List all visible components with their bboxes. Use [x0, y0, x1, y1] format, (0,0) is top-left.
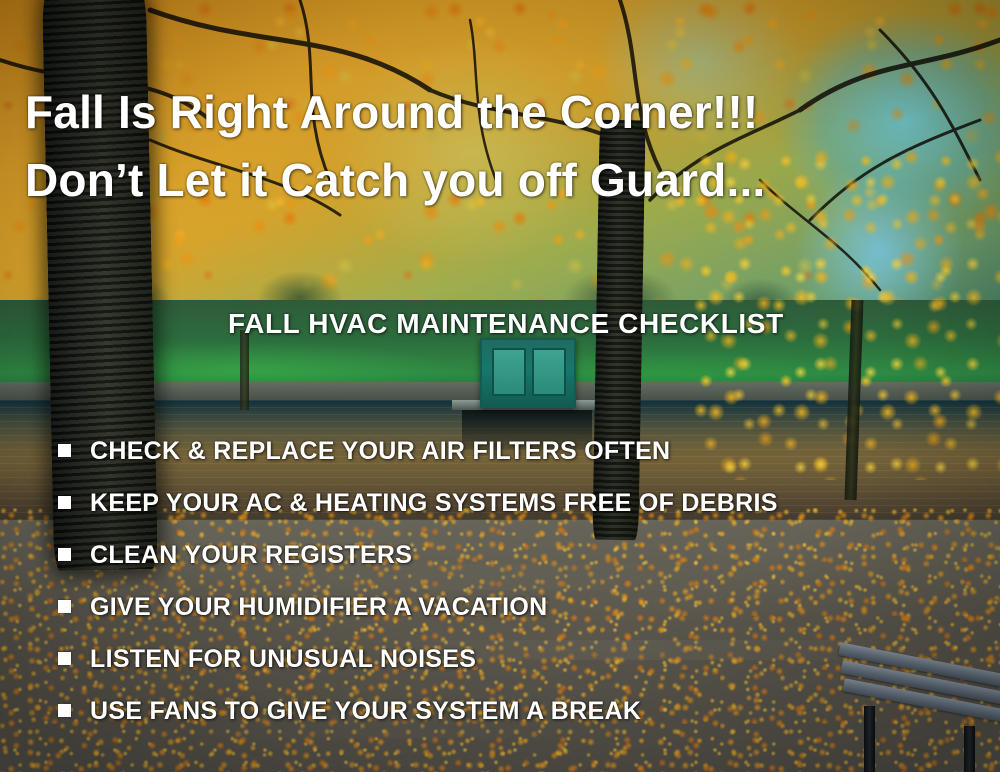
checklist-title: FALL HVAC MAINTENANCE CHECKLIST: [228, 308, 784, 340]
bullet-square-icon: [58, 444, 71, 457]
bullet-square-icon: [58, 600, 71, 613]
thin-tree-trunk: [240, 330, 249, 410]
checklist-item-label: USE FANS TO GIVE YOUR SYSTEM A BREAK: [90, 697, 641, 725]
teal-kiosk: [480, 338, 576, 408]
checklist-item: CHECK & REPLACE YOUR AIR FILTERS OFTEN: [58, 430, 958, 482]
headline: Fall Is Right Around the Corner!!! Don’t…: [25, 78, 955, 214]
bullet-square-icon: [58, 704, 71, 717]
checklist-item: GIVE YOUR HUMIDIFIER A VACATION: [58, 586, 958, 638]
bullet-square-icon: [58, 548, 71, 561]
headline-line-1: Fall Is Right Around the Corner!!!: [25, 78, 955, 146]
maintenance-checklist: CHECK & REPLACE YOUR AIR FILTERS OFTEN K…: [58, 430, 958, 742]
stone-embankment: [0, 382, 1000, 408]
checklist-item: CLEAN YOUR REGISTERS: [58, 534, 958, 586]
checklist-item: LISTEN FOR UNUSUAL NOISES: [58, 638, 958, 690]
kiosk-panel-right: [532, 348, 566, 396]
headline-line-2: Don’t Let it Catch you off Guard...: [25, 146, 955, 214]
checklist-item: KEEP YOUR AC & HEATING SYSTEMS FREE OF D…: [58, 482, 958, 534]
checklist-item-label: KEEP YOUR AC & HEATING SYSTEMS FREE OF D…: [90, 489, 778, 517]
bench-leg: [964, 726, 975, 772]
bullet-square-icon: [58, 652, 71, 665]
checklist-item: USE FANS TO GIVE YOUR SYSTEM A BREAK: [58, 690, 958, 742]
checklist-item-label: CHECK & REPLACE YOUR AIR FILTERS OFTEN: [90, 437, 670, 465]
kiosk-base: [452, 400, 602, 410]
checklist-item-label: LISTEN FOR UNUSUAL NOISES: [90, 645, 476, 673]
checklist-item-label: GIVE YOUR HUMIDIFIER A VACATION: [90, 593, 547, 621]
kiosk-panel-left: [492, 348, 526, 396]
fall-hvac-poster: Fall Is Right Around the Corner!!! Don’t…: [0, 0, 1000, 772]
checklist-item-label: CLEAN YOUR REGISTERS: [90, 541, 412, 569]
bullet-square-icon: [58, 496, 71, 509]
